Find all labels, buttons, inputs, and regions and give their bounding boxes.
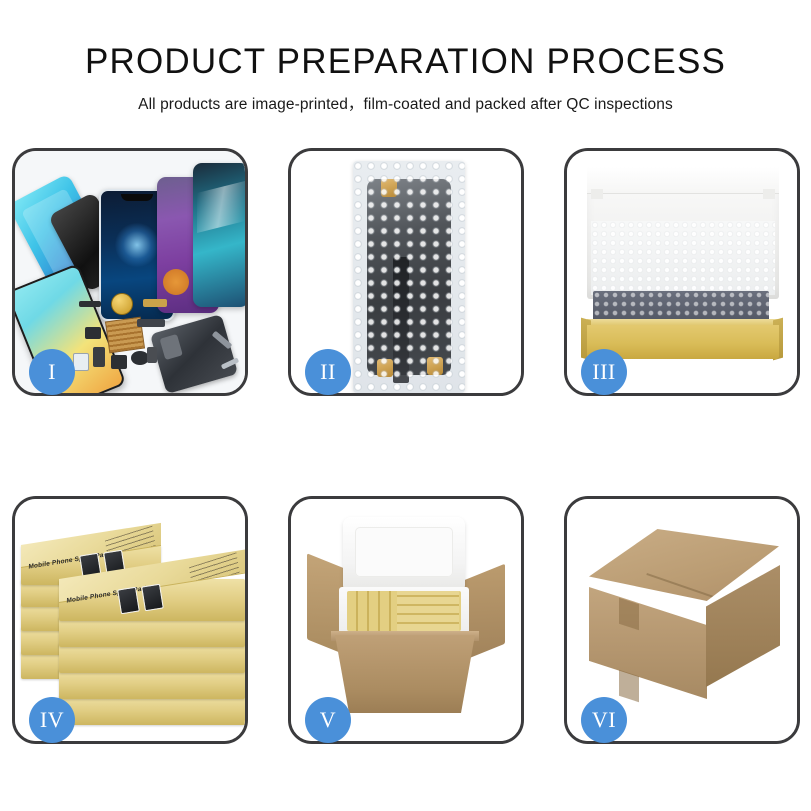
step-badge-2: II: [305, 349, 351, 395]
process-step-panel-1: I: [12, 148, 248, 396]
retail-box-icon: Mobile Phone Spare Parts: [59, 579, 245, 621]
tape-tab-icon: [381, 179, 397, 197]
part-sim-tray-icon: [147, 347, 157, 363]
part-battery-icon: [93, 347, 105, 367]
page-subtitle: All products are image-printed，film-coat…: [0, 92, 811, 114]
part-camera-icon: [85, 327, 101, 339]
copper-coil-icon: [111, 293, 133, 315]
box-lid-flap-icon: [587, 167, 779, 194]
carton-body-icon: [335, 635, 475, 713]
white-foam-sheet-icon: [591, 221, 775, 295]
process-step-grid: I II: [12, 148, 801, 744]
retail-box-icon: [59, 669, 245, 699]
box-artwork-screen-icon: [117, 587, 140, 615]
step-badge-1: I: [29, 349, 75, 395]
process-step-panel-4: Mobile Phone Spare Parts Mobile Phone Sp…: [12, 496, 248, 744]
retail-box-icon: [59, 617, 245, 647]
step-badge-3: III: [581, 349, 627, 395]
tape-tab-icon: [377, 359, 393, 377]
foam-box-lid-icon: [343, 517, 465, 593]
process-step-panel-3: III: [564, 148, 800, 396]
retail-box-icon: [59, 643, 245, 673]
process-step-panel-5: V: [288, 496, 524, 744]
box-artwork-screen-icon: [141, 584, 164, 612]
wrapped-screen-icon: [367, 179, 451, 375]
part-chip-icon: [111, 355, 127, 369]
part-speaker-icon: [79, 301, 101, 307]
process-step-panel-2: II: [288, 148, 524, 396]
part-flex-cable-icon: [143, 299, 167, 307]
step-badge-4: IV: [29, 697, 75, 743]
retail-box-icon: [59, 695, 245, 725]
carton-front-face-icon: [589, 587, 707, 699]
tape-tab-icon: [427, 357, 443, 375]
page-header: PRODUCT PREPARATION PROCESS All products…: [0, 0, 811, 114]
carton-tape-icon: [619, 670, 639, 702]
box-spec-text-icon: [189, 552, 241, 596]
product-preparation-process-page: PRODUCT PREPARATION PROCESS All products…: [0, 0, 811, 811]
step-badge-6: VI: [581, 697, 627, 743]
teal-phone-icon: [193, 163, 245, 307]
packed-retail-boxes-icon: [397, 591, 459, 631]
bubble-wrap-package-icon: [353, 161, 465, 393]
part-ribbon-icon: [137, 319, 165, 327]
wrapped-flex-cable-icon: [393, 257, 409, 383]
page-title: PRODUCT PREPARATION PROCESS: [0, 44, 811, 81]
process-step-panel-6: VI: [564, 496, 800, 744]
retail-box-stack: Mobile Phone Spare Parts Mobile Phone Sp…: [21, 521, 245, 727]
part-white-module-icon: [73, 353, 89, 371]
step-badge-5: V: [305, 697, 351, 743]
